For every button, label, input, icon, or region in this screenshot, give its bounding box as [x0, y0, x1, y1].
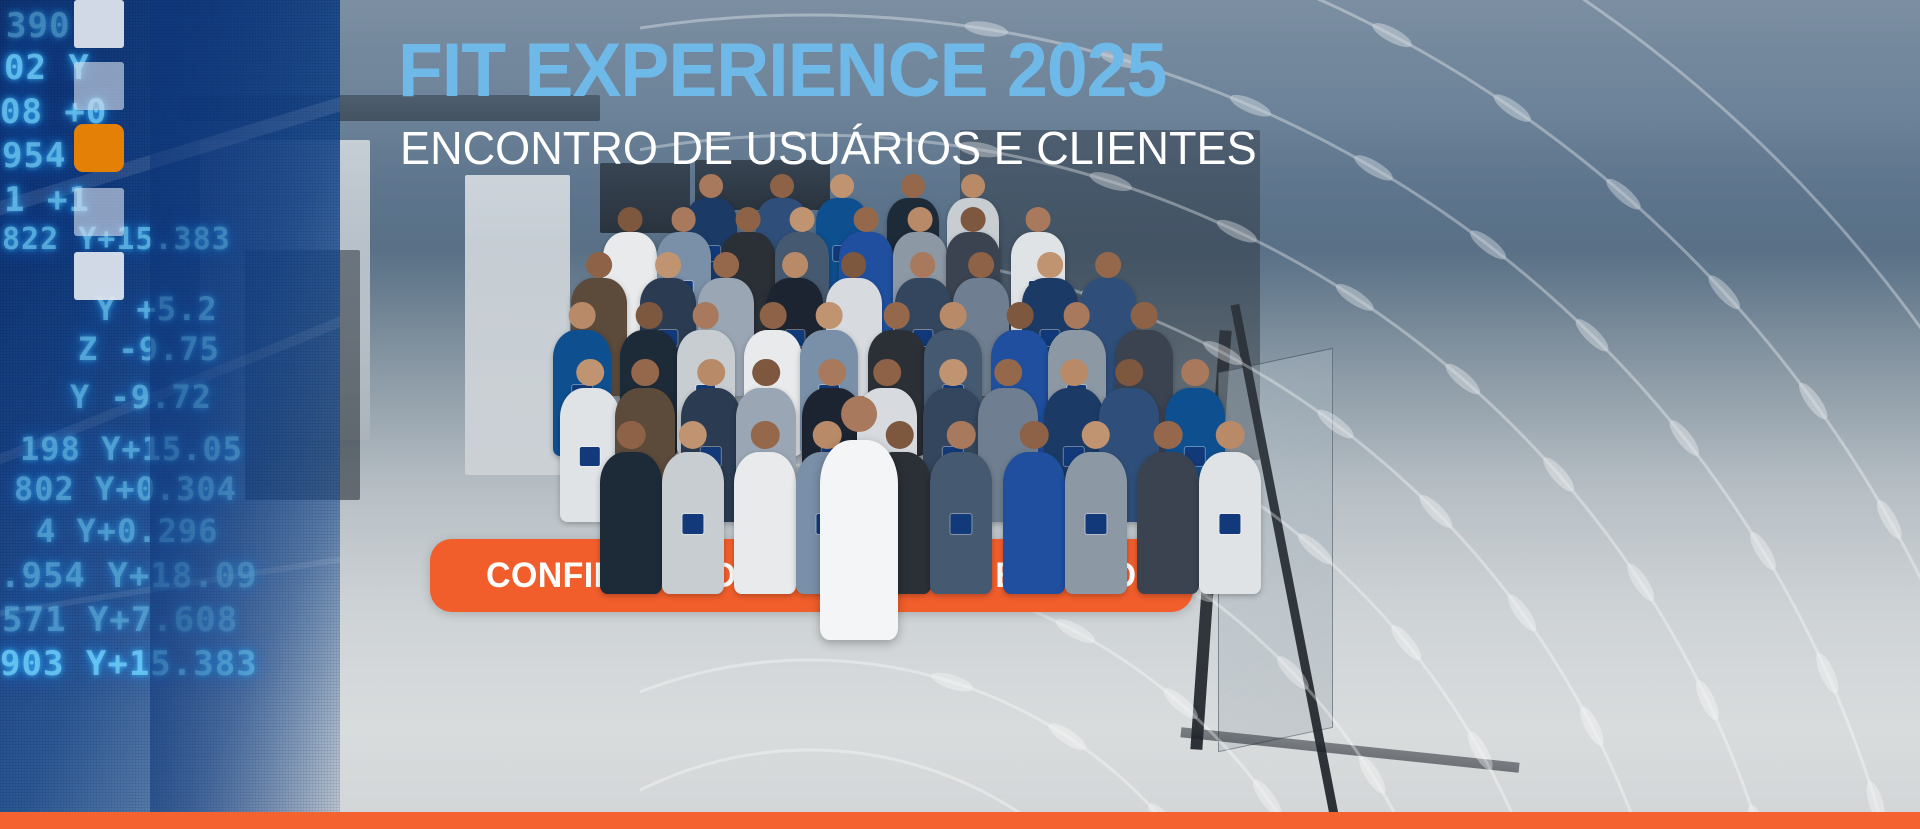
attendee-head — [854, 207, 879, 232]
attendee-head — [830, 174, 854, 198]
hero-banner: 39002 Y08 +0954 Y1 +1822 Y+15.383Y +5.2Z… — [0, 0, 1920, 829]
attendee-head — [699, 174, 723, 198]
attendee-badge — [1219, 514, 1240, 534]
accent-square-light — [74, 62, 124, 110]
attendee-head — [783, 252, 809, 278]
attendee-head — [818, 359, 846, 387]
attendee-head — [1131, 302, 1158, 329]
attendee-head — [901, 174, 925, 198]
attendee-head — [1037, 252, 1063, 278]
attendee — [662, 452, 724, 594]
attendee-head — [1154, 421, 1183, 450]
attendee-head — [1020, 421, 1049, 450]
attendee-badge — [682, 514, 703, 534]
left-tech-graphic: 39002 Y08 +0954 Y1 +1822 Y+15.383Y +5.2Z… — [0, 0, 340, 829]
attendee-head — [697, 359, 725, 387]
attendee-head — [1026, 207, 1051, 232]
attendee-head — [873, 359, 901, 387]
accent-square-light — [74, 252, 124, 300]
attendee-head — [1181, 359, 1209, 387]
attendee-head — [940, 302, 967, 329]
attendee-head — [751, 421, 780, 450]
attendee-head — [1063, 302, 1090, 329]
attendee-head — [1060, 359, 1088, 387]
attendee-head — [586, 252, 612, 278]
cnc-code-line: 390 — [6, 6, 70, 46]
accent-square-light — [74, 0, 124, 48]
attendee — [930, 452, 992, 594]
attendee-head — [1081, 421, 1110, 450]
attendee-head — [576, 359, 604, 387]
attendee — [734, 452, 796, 594]
attendee — [1199, 452, 1261, 594]
bottom-accent-bar — [0, 812, 1920, 829]
attendee-badge — [1085, 514, 1106, 534]
attendee-head — [910, 252, 936, 278]
attendee-head — [760, 302, 787, 329]
attendee-badge — [951, 514, 972, 534]
attendee-head — [1095, 252, 1121, 278]
attendee-head — [692, 302, 719, 329]
attendee-foreground — [820, 440, 898, 640]
attendee-head — [617, 421, 646, 450]
attendee — [600, 452, 662, 594]
attendee-head — [968, 252, 994, 278]
attendee-head — [636, 302, 663, 329]
attendee-badge — [580, 447, 600, 466]
attendee-head — [770, 174, 794, 198]
attendee — [1137, 452, 1199, 594]
attendee-head — [1115, 359, 1143, 387]
attendee-head — [671, 207, 696, 232]
attendee-head — [631, 359, 659, 387]
attendee-head — [883, 302, 910, 329]
attendee-head — [713, 252, 739, 278]
attendee-head — [961, 174, 985, 198]
attendee-head — [1007, 302, 1034, 329]
attendee-head — [816, 302, 843, 329]
attendee-head — [947, 421, 976, 450]
attendee-head — [736, 207, 761, 232]
accent-square-orange — [74, 124, 124, 172]
attendee-head — [841, 396, 877, 432]
attendee-head — [789, 207, 814, 232]
attendee-head — [907, 207, 932, 232]
attendee-head — [752, 359, 780, 387]
attendee — [1003, 452, 1065, 594]
attendee-head — [618, 207, 643, 232]
attendee — [1065, 452, 1127, 594]
attendee-head — [569, 302, 596, 329]
attendee-head — [841, 252, 867, 278]
tech-graphic-fade — [150, 0, 340, 829]
page-title: FIT EXPERIENCE 2025 — [398, 33, 1166, 109]
page-subtitle: ENCONTRO DE USUÁRIOS E CLIENTES — [400, 125, 1257, 171]
attendee-head — [885, 421, 914, 450]
accent-square-light — [74, 188, 124, 236]
attendee-head — [678, 421, 707, 450]
attendee-head — [939, 359, 967, 387]
attendee-head — [961, 207, 986, 232]
attendee-head — [994, 359, 1022, 387]
attendee-head — [1216, 421, 1245, 450]
attendee-head — [655, 252, 681, 278]
